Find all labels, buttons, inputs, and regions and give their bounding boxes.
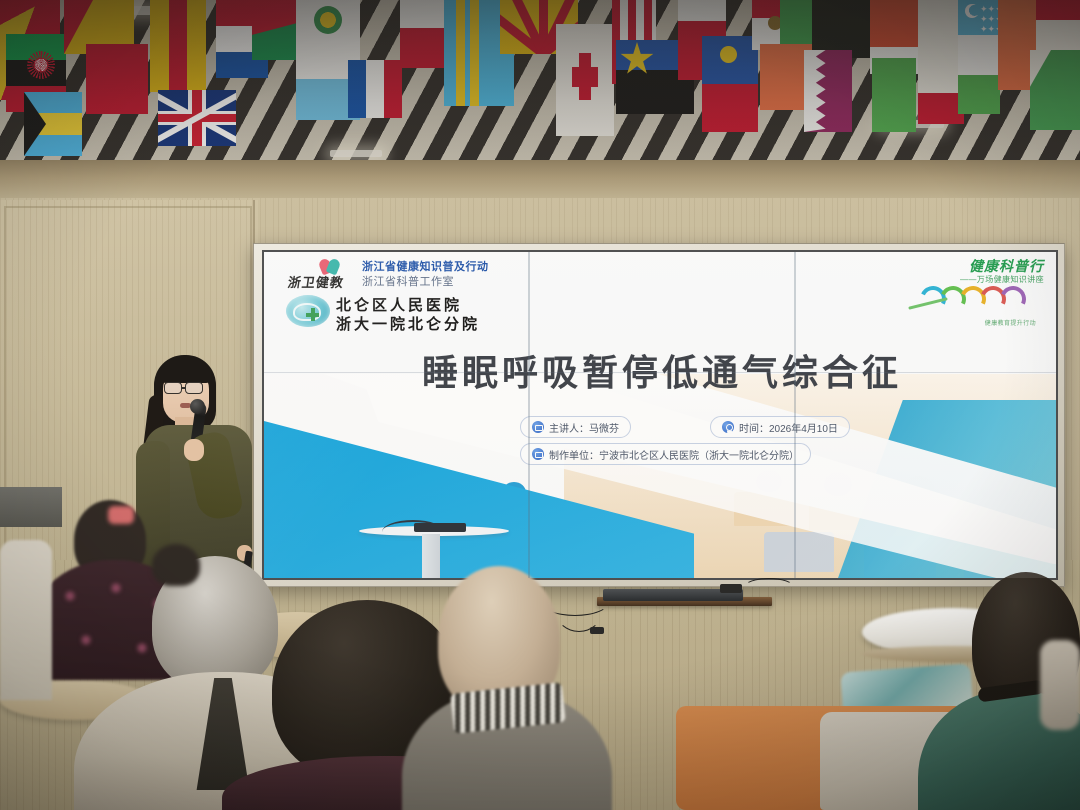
- panel-seam: [264, 372, 1058, 373]
- health-campaign-logo: 健康科普行 ——万场健康知识讲座 健康教育提升行动: [904, 256, 1046, 334]
- date-label: 时间：2026年4月10日: [739, 420, 838, 435]
- glasses-lens-right: [185, 382, 203, 394]
- presenter-label: 主讲人：马微芬: [549, 420, 619, 435]
- hospital-name-line1: 北仑区人民医院: [336, 294, 462, 315]
- illustration-laptop: [414, 523, 466, 532]
- campaign-subtitle: ——万场健康知识讲座: [960, 274, 1044, 285]
- ceiling-grid: ✦✦✦ ✦✦✦✦ ✦✦✦✦✦: [0, 0, 1080, 172]
- side-counter: [0, 487, 62, 527]
- presentation-screen[interactable]: 浙江省健康知识普及行动 浙卫健教 浙江省科普工作室 北仑区人民医院 浙大一院北仑…: [262, 250, 1058, 580]
- slide-artwork: [264, 374, 1058, 580]
- hospital-cross-icon: [286, 295, 330, 327]
- audience-arm: [1040, 640, 1080, 730]
- power-cable: [556, 592, 602, 632]
- building-icon: [532, 448, 544, 460]
- presenter-fringe: [160, 361, 212, 383]
- cable-brick: [590, 627, 604, 634]
- clock-icon: [722, 421, 734, 433]
- power-cable: [744, 578, 794, 596]
- panel-seam: [528, 252, 530, 580]
- face-mask: [108, 506, 134, 524]
- chair-back: [0, 540, 52, 700]
- glasses-lens-left: [164, 382, 182, 394]
- glasses-bridge: [182, 387, 186, 389]
- campaign-line: 浙江省健康知识普及行动: [362, 258, 489, 274]
- presenter-pill: 主讲人：马微芬: [520, 416, 631, 438]
- cable-brick: [720, 584, 742, 593]
- campaign-title: 健康科普行: [969, 256, 1044, 276]
- illustration-podium-leg: [422, 534, 440, 580]
- wall-header-beam: [0, 160, 1080, 198]
- hospital-logo: 北仑区人民医院 浙大一院北仑分院: [286, 292, 566, 334]
- date-pill: 时间：2026年4月10日: [710, 416, 850, 438]
- presenter-hand: [184, 439, 204, 461]
- studio-line: 浙江省科普工作室: [362, 273, 454, 289]
- slide-info-row: 主讲人：马微芬 时间：2026年4月10日: [520, 416, 940, 438]
- audience-head-far: [152, 544, 200, 586]
- lecture-room-photo: ✦✦✦ ✦✦✦✦ ✦✦✦✦✦: [0, 0, 1080, 810]
- producer-label: 制作单位：宁波市北仑区人民医院（浙大一院北仑分院）: [549, 447, 799, 462]
- microphone-head: [190, 399, 205, 414]
- producer-pill: 制作单位：宁波市北仑区人民医院（浙大一院北仑分院）: [520, 443, 811, 465]
- presenter: [130, 355, 270, 585]
- zw-brand-name: 浙卫健教: [287, 272, 346, 291]
- slide-header: 浙江省健康知识普及行动 浙卫健教 浙江省科普工作室 北仑区人民医院 浙大一院北仑…: [264, 252, 1058, 338]
- rings-swoosh-icon: [920, 286, 1038, 320]
- campaign-footer: 健康教育提升行动: [985, 318, 1036, 327]
- panel-seam: [794, 252, 796, 580]
- slide-title: 睡眠呼吸暂停低通气综合征: [264, 344, 1058, 396]
- hospital-name-line2: 浙大一院北仑分院: [336, 313, 480, 334]
- speaker-icon: [532, 421, 544, 433]
